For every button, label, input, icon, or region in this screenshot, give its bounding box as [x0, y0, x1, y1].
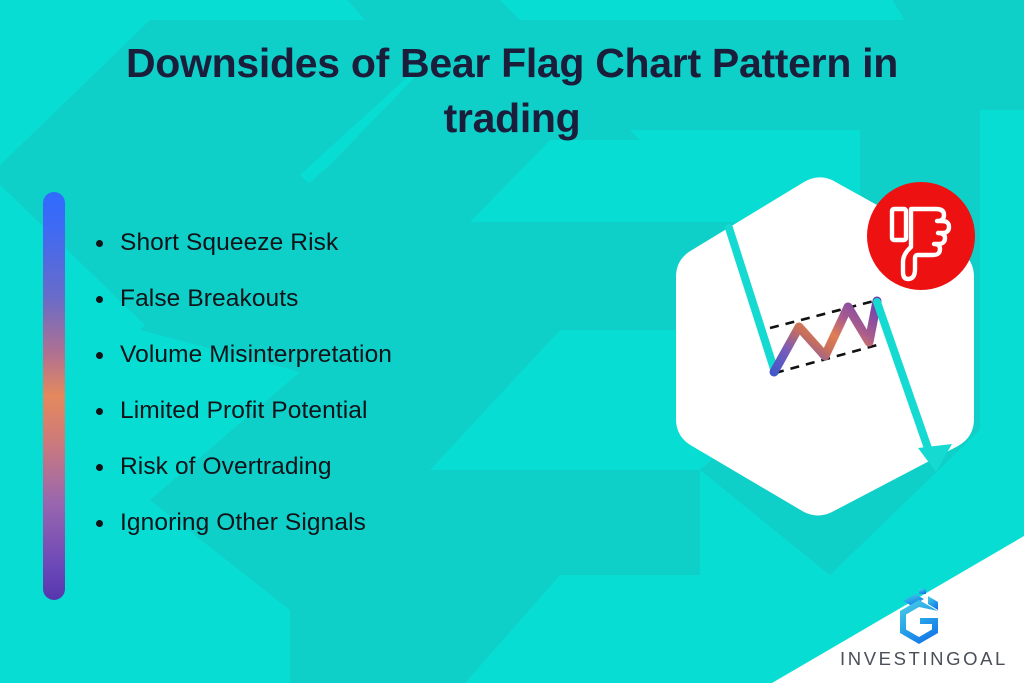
list-item-label: Ignoring Other Signals — [120, 509, 366, 536]
bullet-dot-icon — [96, 520, 103, 527]
downsides-list: Short Squeeze Risk False Breakouts Volum… — [88, 228, 648, 564]
bullet-dot-icon — [96, 352, 103, 359]
badge-circle — [867, 182, 975, 290]
list-item-label: Volume Misinterpretation — [120, 341, 392, 368]
infographic-canvas: Downsides of Bear Flag Chart Pattern in … — [0, 0, 1024, 683]
list-item: Risk of Overtrading — [88, 452, 648, 508]
list-item: Volume Misinterpretation — [88, 340, 648, 396]
list-item-label: Risk of Overtrading — [120, 453, 332, 480]
bullet-dot-icon — [96, 464, 103, 471]
bear-flag-illustration — [672, 176, 1008, 516]
list-item-label: Short Squeeze Risk — [120, 229, 338, 256]
logo-wordmark: INVESTINGOAL — [840, 650, 1000, 669]
bullet-dot-icon — [96, 296, 103, 303]
list-item: Limited Profit Potential — [88, 396, 648, 452]
brand-logo: INVESTINGOAL — [840, 588, 1000, 669]
bullet-dot-icon — [96, 408, 103, 415]
bullet-dot-icon — [96, 240, 103, 247]
list-item-label: False Breakouts — [120, 285, 299, 312]
page-title: Downsides of Bear Flag Chart Pattern in … — [50, 36, 974, 146]
list-item: Ignoring Other Signals — [88, 508, 648, 564]
list-item: False Breakouts — [88, 284, 648, 340]
accent-gradient-bar — [43, 192, 65, 600]
list-item: Short Squeeze Risk — [88, 228, 648, 284]
thumbs-down-badge — [867, 182, 975, 290]
investingoal-hexagon-g-icon — [893, 588, 947, 646]
list-item-label: Limited Profit Potential — [120, 397, 368, 424]
